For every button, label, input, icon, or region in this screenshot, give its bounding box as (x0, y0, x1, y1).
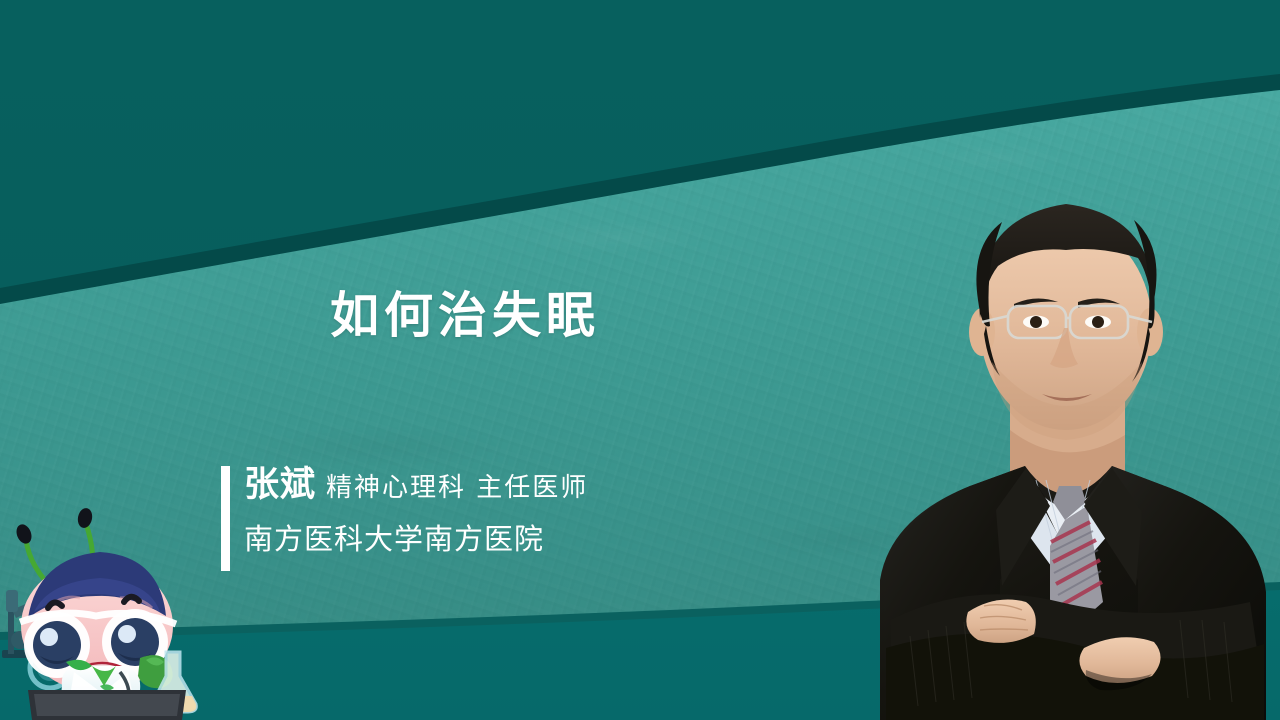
cartoon-scientist-mascot (0, 490, 215, 720)
speaker-department: 精神心理科 主任医师 (326, 473, 588, 503)
vertical-accent-bar (221, 466, 230, 571)
doctor-portrait-image (850, 150, 1280, 720)
speaker-info-block: 张斌精神心理科 主任医师 南方医科大学南方医院 (244, 462, 764, 554)
page-title: 如何治失眠 (330, 276, 600, 347)
slide-canvas: 如何治失眠 张斌精神心理科 主任医师 南方医科大学南方医院 (0, 0, 1280, 720)
speaker-hospital: 南方医科大学南方医院 (244, 525, 764, 554)
speaker-name-line: 张斌精神心理科 主任医师 (244, 468, 764, 503)
speaker-name: 张斌 (244, 465, 316, 505)
